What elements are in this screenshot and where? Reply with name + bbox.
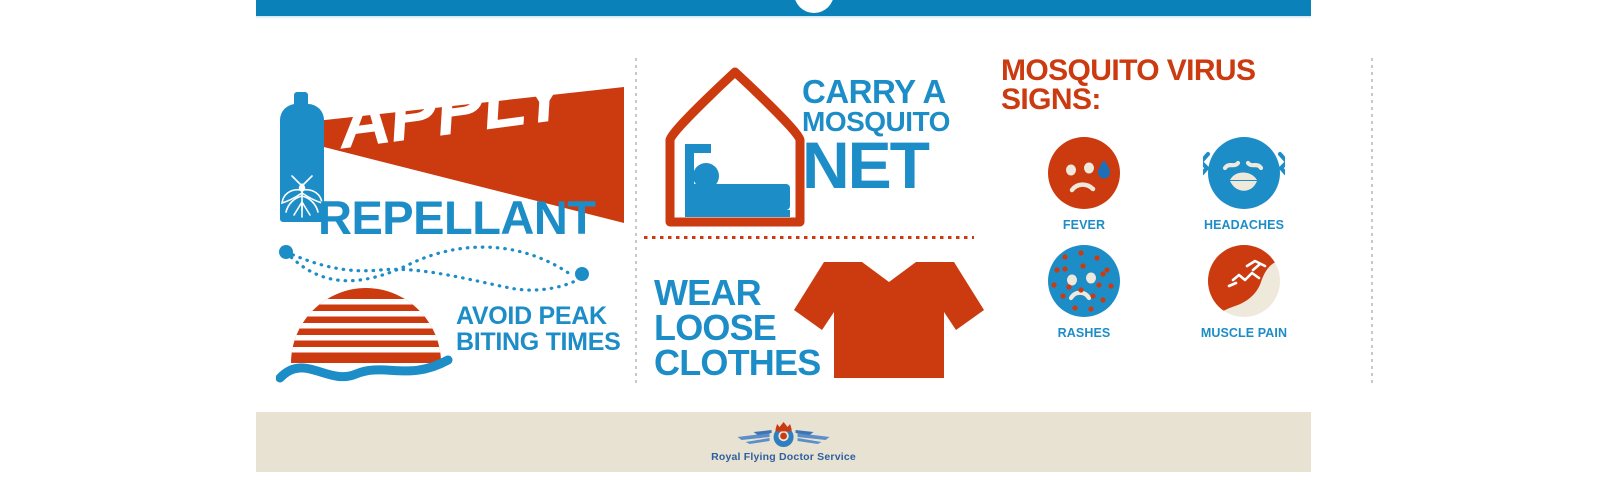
long-sleeve-shirt-icon — [794, 256, 984, 381]
avoid-peak-text: AVOID PEAK BITING TIMES — [456, 304, 620, 355]
banner-underline — [256, 16, 1311, 19]
headache-face-icon — [1203, 132, 1285, 214]
infographic-page: APPLY REPELLANT — [0, 0, 1600, 500]
main-content: APPLY REPELLANT — [256, 40, 1311, 395]
panel-divider-right — [1371, 58, 1373, 387]
symptom-label-rashes: RASHES — [1019, 326, 1149, 340]
headaches-icon-wrap — [1203, 132, 1285, 214]
carry-net-block: CARRY A MOSQUITO NET — [656, 60, 986, 235]
symptom-fever: FEVER — [1019, 132, 1149, 232]
fever-icon-wrap — [1043, 132, 1125, 214]
apply-repellant-block: APPLY REPELLANT — [274, 62, 624, 242]
red-dotted-divider — [644, 236, 974, 239]
mosquito-net-tent-icon — [660, 66, 810, 228]
panel-apply-repellant: APPLY REPELLANT — [256, 40, 636, 395]
symptom-muscle-pain: MUSCLE PAIN — [1179, 240, 1309, 340]
avoid-line-2: BITING TIMES — [456, 330, 620, 356]
sweating-sad-face-icon — [1043, 132, 1125, 214]
footer-organisation-name: Royal Flying Doctor Service — [711, 451, 856, 463]
net-line-3: NET — [802, 134, 950, 197]
wear-loose-clothes-block: WEAR LOOSE CLOTHES — [644, 254, 984, 394]
banner-notch-shape — [794, 0, 834, 13]
signs-title-line-1: MOSQUITO VIRUS — [1001, 56, 1255, 85]
rashes-icon-wrap — [1043, 240, 1125, 322]
symptom-label-fever: FEVER — [1019, 218, 1149, 232]
symptom-label-headaches: HEADACHES — [1179, 218, 1309, 232]
signs-title-line-2: SIGNS: — [1001, 85, 1255, 114]
footer-bar: Royal Flying Doctor Service — [256, 412, 1311, 472]
symptom-label-muscle-pain: MUSCLE PAIN — [1179, 326, 1309, 340]
top-blue-banner — [256, 0, 1311, 16]
footer-logo: Royal Flying Doctor Service — [711, 420, 856, 463]
panel-mosquito-net: CARRY A MOSQUITO NET WEAR LOOSE CLOTHES — [636, 40, 991, 395]
repellant-subhead: REPELLANT — [318, 194, 596, 241]
symptom-rashes: RASHES — [1019, 240, 1149, 340]
net-line-1: CARRY A — [802, 76, 950, 107]
muscle-pain-icon-wrap — [1203, 240, 1285, 322]
avoid-peak-biting-block: AVOID PEAK BITING TIMES — [264, 240, 624, 390]
avoid-line-1: AVOID PEAK — [456, 304, 620, 330]
setting-sun-icon — [276, 282, 456, 387]
carry-net-text: CARRY A MOSQUITO NET — [802, 76, 950, 197]
symptom-grid: FEVER — [1019, 132, 1309, 340]
symptom-headaches: HEADACHES — [1179, 132, 1309, 232]
muscle-pain-icon — [1203, 240, 1285, 322]
winged-crown-logo-icon — [735, 420, 831, 450]
virus-signs-title: MOSQUITO VIRUS SIGNS: — [1001, 56, 1255, 115]
panel-virus-signs: MOSQUITO VIRUS SIGNS: FEV — [991, 40, 1311, 395]
spotted-face-icon — [1043, 240, 1125, 322]
